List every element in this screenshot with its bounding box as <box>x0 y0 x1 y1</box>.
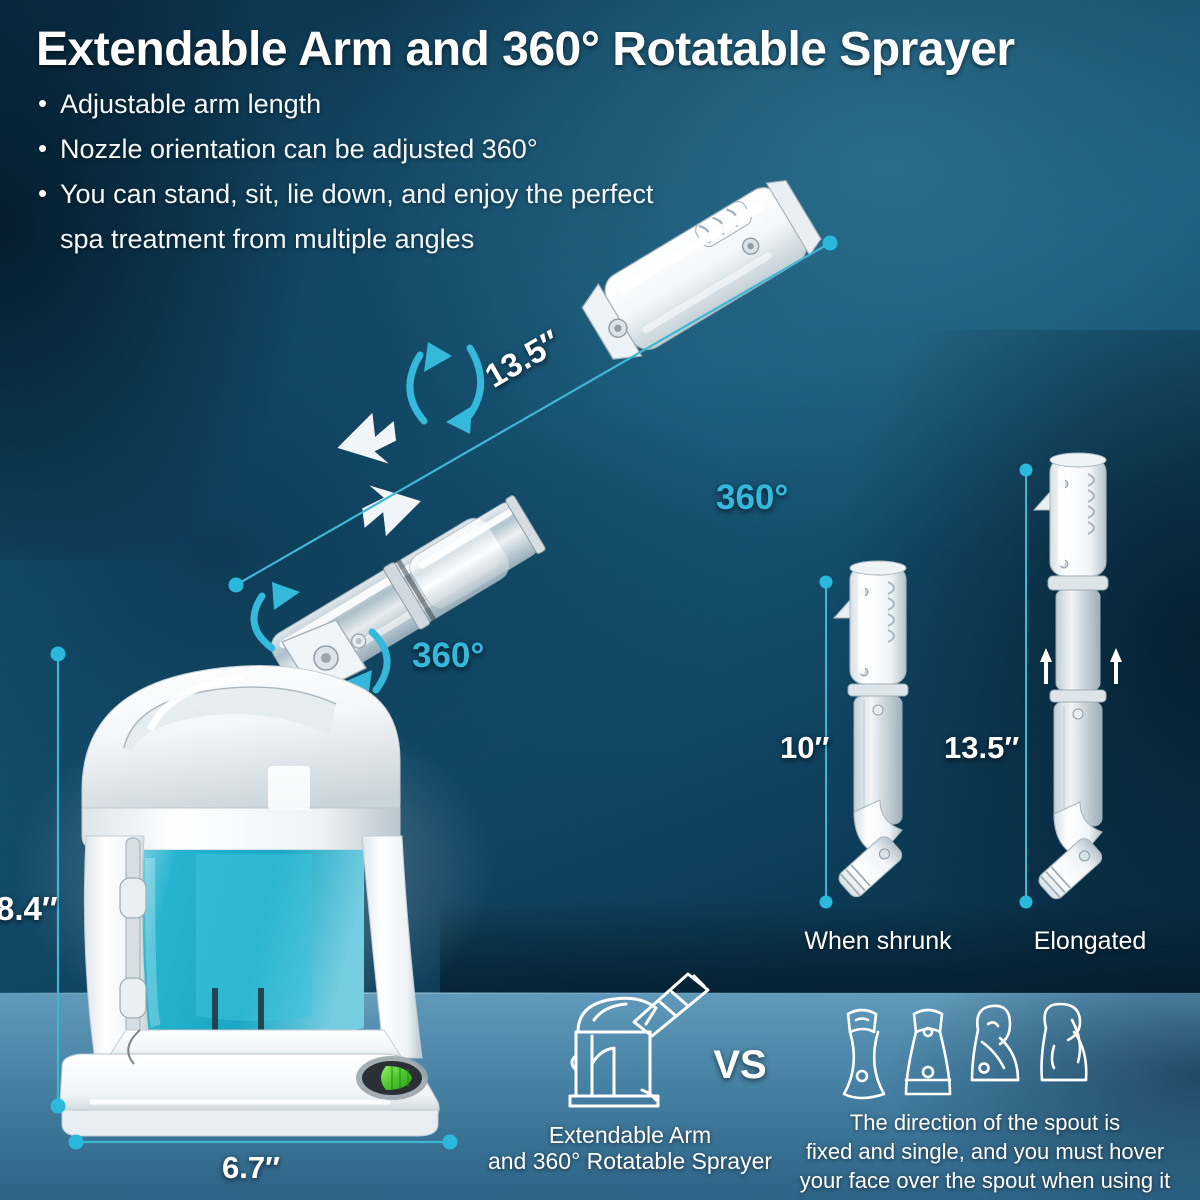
bullet-text: Adjustable arm length <box>60 88 321 121</box>
competitor-icon-4 <box>1042 1004 1087 1080</box>
body-width-label: 6.7″ <box>222 1150 280 1186</box>
bullet-text: You can stand, sit, lie down, and enjoy … <box>60 178 653 211</box>
competitor-caption: The direction of the spout is fixed and … <box>770 1108 1200 1195</box>
arm-elongated-length-label: 13.5″ <box>944 730 1019 766</box>
product-caption-line2: and 360° Rotatable Sprayer <box>470 1148 790 1174</box>
rotation-label-nozzle: 360° <box>716 478 788 518</box>
arm-elongated-caption: Elongated <box>1000 928 1180 954</box>
list-item: • Adjustable arm length <box>38 88 818 121</box>
product-caption: Extendable Arm and 360° Rotatable Spraye… <box>470 1122 790 1174</box>
arm-shrunk-illustration <box>820 560 950 920</box>
competitor-outline-icons <box>832 1002 1122 1108</box>
list-item: • You can stand, sit, lie down, and enjo… <box>38 178 818 211</box>
arm-elongated-illustration <box>1020 452 1150 922</box>
competitor-caption-line3: your face over the spout when using it <box>770 1166 1200 1195</box>
competitor-caption-line2: fixed and single, and you must hover <box>770 1137 1200 1166</box>
page-title: Extendable Arm and 360° Rotatable Spraye… <box>36 22 1186 77</box>
product-outline-icon <box>548 960 718 1110</box>
bullet-marker-icon: • <box>38 178 60 208</box>
arm-elongated-dimension <box>1014 462 1038 910</box>
competitor-icon-1 <box>844 1010 884 1098</box>
versus-mark: VS <box>705 1043 775 1088</box>
product-caption-line1: Extendable Arm <box>470 1122 790 1148</box>
competitor-icon-2 <box>906 1010 950 1094</box>
arm-shrunk-length-label: 10″ <box>780 730 829 766</box>
arm-length-dimension <box>210 215 870 615</box>
competitor-caption-line1: The direction of the spout is <box>770 1108 1200 1137</box>
bullet-marker-icon: • <box>38 88 60 118</box>
bullet-text: Nozzle orientation can be adjusted 360° <box>60 133 538 166</box>
infographic-canvas: Extendable Arm and 360° Rotatable Spraye… <box>0 0 1200 1200</box>
power-indicator-icon <box>381 1066 412 1090</box>
body-height-dimension <box>44 640 74 1120</box>
bullet-marker-icon: • <box>38 133 60 163</box>
arm-shrunk-caption: When shrunk <box>788 928 968 954</box>
competitor-icon-3 <box>972 1006 1018 1080</box>
rotation-label-base-joint: 360° <box>412 636 484 676</box>
list-item: • Nozzle orientation can be adjusted 360… <box>38 133 818 166</box>
body-height-label: 8.4″ <box>0 890 58 928</box>
